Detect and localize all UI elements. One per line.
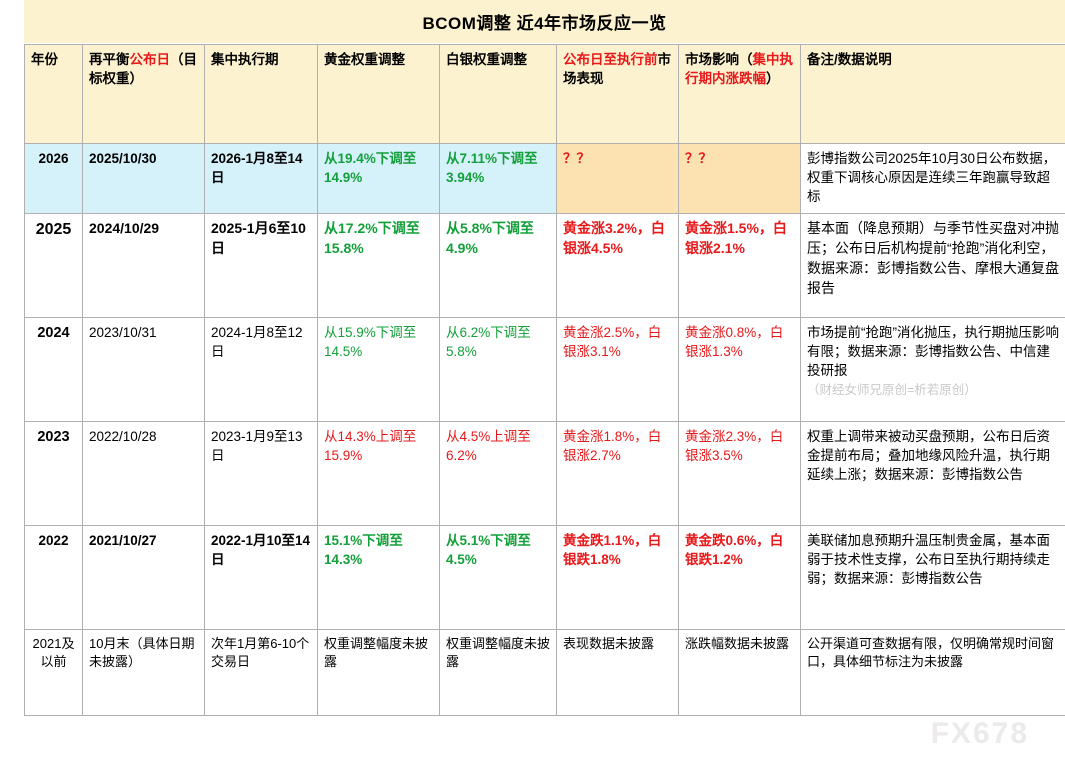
cell-rebalance-date: 2022/10/28 bbox=[83, 422, 205, 526]
table-header: 年份 再平衡公布日（目标权重） 集中执行期 黄金权重调整 白银权重调整 公布日至… bbox=[25, 45, 1065, 144]
column-header-text: 备注/数据说明 bbox=[807, 52, 892, 67]
table-row: 20252024/10/292025-1月6至10日从17.2%下调至15.8%… bbox=[25, 214, 1065, 318]
cell-silver-weight: 从4.5%上调至6.2% bbox=[440, 422, 557, 526]
page-root: BCOM调整 近4年市场反应一览 年份 再平衡公布日（目标权重） 集中执行期 黄… bbox=[0, 0, 1065, 765]
column-header-notes: 备注/数据说明 bbox=[801, 45, 1065, 144]
cell-silver-weight: 从7.11%下调至3.94% bbox=[440, 144, 557, 214]
cell-pre-exec-perf: 黄金涨1.8%，白银涨2.7% bbox=[557, 422, 679, 526]
cell-gold-weight: 从17.2%下调至15.8% bbox=[318, 214, 440, 318]
table-body: 20262025/10/302026-1月8至14日从19.4%下调至14.9%… bbox=[25, 144, 1065, 716]
table-row: 20232022/10/282023-1月9至13日从14.3%上调至15.9%… bbox=[25, 422, 1065, 526]
cell-notes: 市场提前“抢跑”消化抛压，执行期抛压影响有限；数据来源：彭博指数公告、中信建投研… bbox=[801, 318, 1065, 422]
page-title-bar: BCOM调整 近4年市场反应一览 bbox=[24, 0, 1065, 43]
cell-rebalance-date: 10月末（具体日期未披露） bbox=[83, 630, 205, 716]
table-row: 2021及以前10月末（具体日期未披露）次年1月第6-10个交易日权重调整幅度未… bbox=[25, 630, 1065, 716]
column-header-exec-period: 集中执行期 bbox=[205, 45, 318, 144]
column-header-text: 公布日 bbox=[130, 52, 171, 67]
cell-notes: 美联储加息预期升温压制贵金属，基本面弱于技术性支撑，公布日至执行期持续走弱；数据… bbox=[801, 526, 1065, 630]
column-header-rebalance-date: 再平衡公布日（目标权重） bbox=[83, 45, 205, 144]
cell-exec-period: 2024-1月8至12日 bbox=[205, 318, 318, 422]
notes-text: 公开渠道可查数据有限，仅明确常规时间窗口，具体细节标注为未披露 bbox=[807, 636, 1054, 669]
cell-pre-exec-perf: 黄金涨2.5%，白银涨3.1% bbox=[557, 318, 679, 422]
cell-silver-weight: 从5.1%下调至4.5% bbox=[440, 526, 557, 630]
cell-silver-weight: 从6.2%下调至5.8% bbox=[440, 318, 557, 422]
cell-market-impact: 黄金跌0.6%，白银跌1.2% bbox=[679, 526, 801, 630]
cell-market-impact: 黄金涨1.5%，白银涨2.1% bbox=[679, 214, 801, 318]
cell-gold-weight: 权重调整幅度未披露 bbox=[318, 630, 440, 716]
cell-gold-weight: 从15.9%下调至14.5% bbox=[318, 318, 440, 422]
cell-year: 2025 bbox=[25, 214, 83, 318]
notes-text: 市场提前“抢跑”消化抛压，执行期抛压影响有限；数据来源：彭博指数公告、中信建投研… bbox=[807, 325, 1059, 378]
cell-gold-weight: 从14.3%上调至15.9% bbox=[318, 422, 440, 526]
column-header-text: 白银 bbox=[446, 52, 473, 67]
column-header-market-impact: 市场影响（集中执行期内涨跌幅） bbox=[679, 45, 801, 144]
cell-year: 2022 bbox=[25, 526, 83, 630]
cell-exec-period: 2025-1月6至10日 bbox=[205, 214, 318, 318]
cell-exec-period: 次年1月第6-10个交易日 bbox=[205, 630, 318, 716]
cell-notes: 彭博指数公司2025年10月30日公布数据，权重下调核心原因是连续三年跑赢导致超… bbox=[801, 144, 1065, 214]
cell-year: 2023 bbox=[25, 422, 83, 526]
cell-notes: 权重上调带来被动买盘预期，公布日后资金提前布局；叠加地缘风险升温，执行期延续上涨… bbox=[801, 422, 1065, 526]
table-row: 20262025/10/302026-1月8至14日从19.4%下调至14.9%… bbox=[25, 144, 1065, 214]
column-header-text: 黄金 bbox=[324, 52, 351, 67]
cell-notes: 基本面（降息预期）与季节性买盘对冲抛压；公布日后机构提前“抢跑”消化利空，数据来… bbox=[801, 214, 1065, 318]
column-header-year: 年份 bbox=[25, 45, 83, 144]
column-header-text: 再平衡 bbox=[89, 52, 130, 67]
bcom-rebalance-table: 年份 再平衡公布日（目标权重） 集中执行期 黄金权重调整 白银权重调整 公布日至… bbox=[24, 44, 1065, 716]
column-header-pre-exec-perf: 公布日至执行前市场表现 bbox=[557, 45, 679, 144]
cell-silver-weight: 从5.8%下调至4.9% bbox=[440, 214, 557, 318]
cell-exec-period: 2022-1月10至14日 bbox=[205, 526, 318, 630]
cell-market-impact: 黄金涨2.3%，白银涨3.5% bbox=[679, 422, 801, 526]
notes-text: 彭博指数公司2025年10月30日公布数据，权重下调核心原因是连续三年跑赢导致超… bbox=[807, 151, 1056, 204]
page-title: BCOM调整 近4年市场反应一览 bbox=[422, 9, 666, 34]
cell-notes: 公开渠道可查数据有限，仅明确常规时间窗口，具体细节标注为未披露 bbox=[801, 630, 1065, 716]
cell-year: 2024 bbox=[25, 318, 83, 422]
notes-subtext: （财经女师兄原创=析若原创） bbox=[807, 382, 1059, 400]
column-header-text: ） bbox=[766, 71, 780, 86]
notes-text: 权重上调带来被动买盘预期，公布日后资金提前布局；叠加地缘风险升温，执行期延续上涨… bbox=[807, 429, 1050, 482]
cell-market-impact: ？？ bbox=[679, 144, 801, 214]
column-header-text: 集中执行期 bbox=[211, 52, 279, 67]
cell-silver-weight: 权重调整幅度未披露 bbox=[440, 630, 557, 716]
cell-year: 2021及以前 bbox=[25, 630, 83, 716]
column-header-gold-weight: 黄金权重调整 bbox=[318, 45, 440, 144]
watermark: FX678 bbox=[931, 717, 1029, 751]
notes-text: 基本面（降息预期）与季节性买盘对冲抛压；公布日后机构提前“抢跑”消化利空，数据来… bbox=[807, 220, 1059, 296]
cell-gold-weight: 从19.4%下调至14.9% bbox=[318, 144, 440, 214]
cell-pre-exec-perf: 黄金涨3.2%，白银涨4.5% bbox=[557, 214, 679, 318]
cell-gold-weight: 15.1%下调至14.3% bbox=[318, 526, 440, 630]
cell-pre-exec-perf: ？？ bbox=[557, 144, 679, 214]
cell-rebalance-date: 2025/10/30 bbox=[83, 144, 205, 214]
cell-rebalance-date: 2023/10/31 bbox=[83, 318, 205, 422]
cell-rebalance-date: 2021/10/27 bbox=[83, 526, 205, 630]
cell-exec-period: 2026-1月8至14日 bbox=[205, 144, 318, 214]
column-header-text: 权重调整 bbox=[473, 52, 527, 67]
cell-pre-exec-perf: 黄金跌1.1%，白银跌1.8% bbox=[557, 526, 679, 630]
notes-text: 美联储加息预期升温压制贵金属，基本面弱于技术性支撑，公布日至执行期持续走弱；数据… bbox=[807, 533, 1050, 586]
cell-market-impact: 黄金涨0.8%，白银涨1.3% bbox=[679, 318, 801, 422]
cell-year: 2026 bbox=[25, 144, 83, 214]
column-header-text: 公布日至执行前 bbox=[563, 52, 658, 67]
cell-exec-period: 2023-1月9至13日 bbox=[205, 422, 318, 526]
column-header-text: 年份 bbox=[31, 52, 58, 67]
header-row: 年份 再平衡公布日（目标权重） 集中执行期 黄金权重调整 白银权重调整 公布日至… bbox=[25, 45, 1065, 144]
cell-market-impact: 涨跌幅数据未披露 bbox=[679, 630, 801, 716]
column-header-text: 市场影响（ bbox=[685, 52, 753, 67]
column-header-text: 权重调整 bbox=[351, 52, 405, 67]
table-row: 20242023/10/312024-1月8至12日从15.9%下调至14.5%… bbox=[25, 318, 1065, 422]
table-row: 20222021/10/272022-1月10至14日15.1%下调至14.3%… bbox=[25, 526, 1065, 630]
column-header-silver-weight: 白银权重调整 bbox=[440, 45, 557, 144]
cell-pre-exec-perf: 表现数据未披露 bbox=[557, 630, 679, 716]
cell-rebalance-date: 2024/10/29 bbox=[83, 214, 205, 318]
